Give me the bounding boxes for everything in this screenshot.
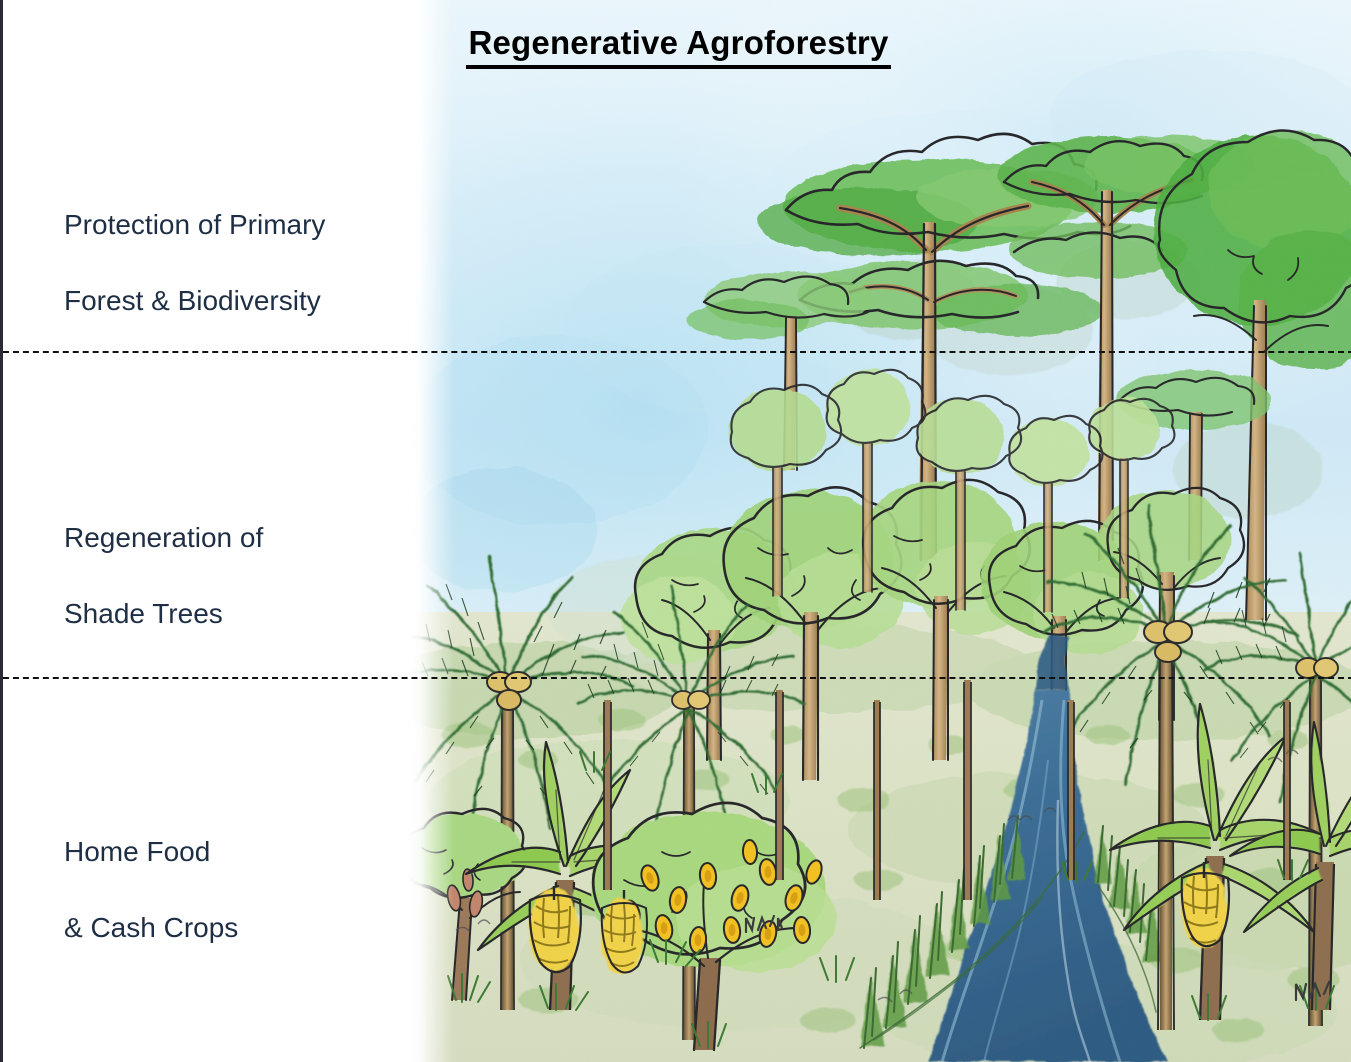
zone-label-line: Regeneration of	[64, 519, 263, 557]
zone-label-line: Home Food	[64, 833, 238, 871]
page-title-text: Regenerative Agroforestry	[466, 24, 890, 69]
zone-label-line: Protection of Primary	[64, 206, 325, 244]
zone-label-shade-trees: Regeneration of Shade Trees	[64, 481, 263, 671]
zone-label-primary-forest: Protection of Primary Forest & Biodivers…	[64, 168, 325, 358]
zone-divider-2	[3, 677, 1351, 679]
zone-label-line: Shade Trees	[64, 595, 263, 633]
page-title: Regenerative Agroforestry	[3, 24, 1351, 69]
palm-fruit-cluster	[672, 691, 710, 709]
zone-label-line: & Cash Crops	[64, 909, 238, 947]
illustration-svg	[408, 0, 1351, 1062]
zone-label-crops: Home Food & Cash Crops	[64, 795, 238, 985]
zone-label-line: Forest & Biodiversity	[64, 282, 325, 320]
agroforestry-illustration	[408, 0, 1351, 1062]
palm-fruit-cluster	[1296, 658, 1338, 678]
diagram-canvas: Regenerative Agroforestry Protection of …	[0, 0, 1351, 1062]
banana-bunch	[1181, 862, 1229, 948]
